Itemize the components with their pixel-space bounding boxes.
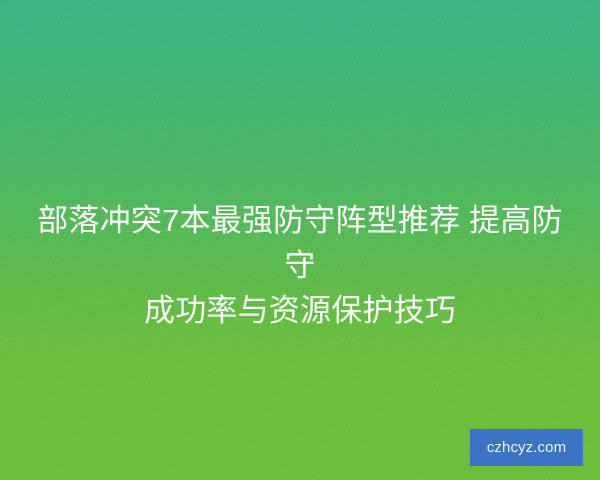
article-cover-image: 部落冲突7本最强防守阵型推荐 提高防守 成功率与资源保护技巧 czhcyz.co…	[0, 0, 600, 480]
watermark-badge-label: czhcyz.com	[487, 440, 566, 455]
cover-title: 部落冲突7本最强防守阵型推荐 提高防守 成功率与资源保护技巧	[0, 198, 600, 333]
watermark-badge: czhcyz.com	[470, 429, 583, 466]
